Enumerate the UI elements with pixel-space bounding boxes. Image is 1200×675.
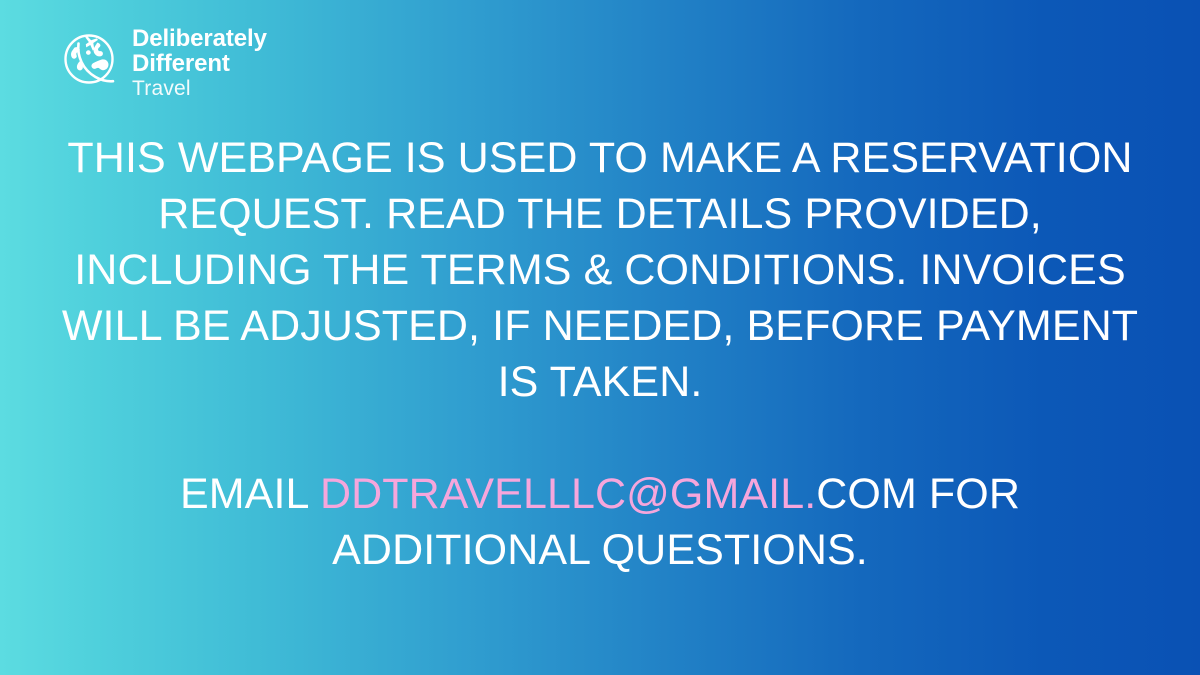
globe-airplane-icon	[58, 28, 120, 90]
email-label-prefix: Email	[180, 470, 320, 518]
brand-logo[interactable]: Deliberately Different Travel	[58, 24, 267, 100]
reservation-notice-paragraph: This webpage is used to make a reservati…	[54, 130, 1146, 410]
brand-word-travel: Travel	[132, 78, 267, 100]
support-email-address[interactable]: ddtravelllc@gmail.	[320, 470, 816, 518]
contact-email-paragraph: Email ddtravelllc@gmail.com for addition…	[54, 466, 1146, 578]
brand-word-deliberately: Deliberately	[132, 27, 267, 52]
announcement-text-block: This webpage is used to make a reservati…	[0, 130, 1200, 578]
brand-word-different: Different	[132, 52, 267, 77]
brand-wordmark: Deliberately Different Travel	[132, 24, 267, 100]
